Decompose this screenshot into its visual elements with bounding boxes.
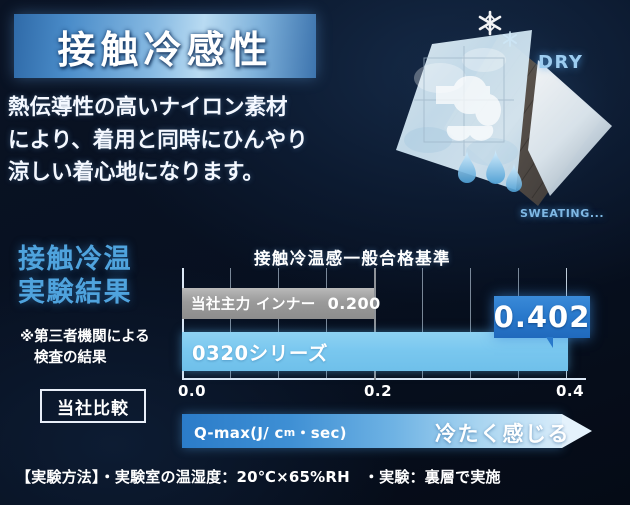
lead-line-1: 熱伝導性の高いナイロン素材 [8,92,328,125]
footnote-experiment: ・実験：裏層で実施 [364,468,501,486]
experiment-result-heading: 接触冷温 実験結果 [18,244,132,310]
x-tick-label-1: 0.2 [364,382,392,400]
qmax-axis-label-prefix: Q-max(J/ c [194,424,284,442]
footnote-method: 【実験方法】・実験室の温湿度：20℃×65%RH [16,468,350,486]
x-tick-label-0: 0.0 [178,382,206,400]
chart-x-tick-labels: 0.0 0.2 0.4 [182,382,592,402]
qmax-axis-label-superscript: m [284,426,296,439]
qmax-feels-cold-label: 冷たく感じる [435,418,570,448]
company-comparison-badge-label: 当社比較 [57,394,129,419]
infographic-root: 接触冷感性 熱伝導性の高いナイロン素材 により、着用と同時にひんやり 涼しい着心… [0,0,630,505]
lead-paragraph: 熱伝導性の高いナイロン素材 により、着用と同時にひんやり 涼しい着心地になります… [8,92,328,190]
qmax-axis-label: Q-max(J/ cm・sec) [194,422,347,443]
third-party-note-line-2: 検査の結果 [20,348,150,369]
page-title-banner: 接触冷感性 [14,14,316,78]
bar-competitor-value: 0.200 [328,294,381,313]
bar-product-label: 0320シリーズ [192,337,328,366]
third-party-note-line-1: ※第三者機関による [20,327,150,348]
chart-x-axis [182,378,586,380]
sweating-label: SWEATING... [520,207,604,220]
lead-line-3: 涼しい着心地になります。 [8,157,328,190]
product-value-callout-text: 0.402 [494,300,591,334]
lead-line-2: により、着用と同時にひんやり [8,125,328,158]
product-value-callout: 0.402 [494,296,590,338]
bar-competitor-label: 当社主力 インナー [191,293,316,314]
footnote: 【実験方法】・実験室の温湿度：20℃×65%RH・実験：裏層で実施 [16,466,501,487]
experiment-result-heading-line-1: 接触冷温 [18,244,132,277]
fabric-swatch-graphic [388,0,630,236]
fabric-illustration: DRY SWEATING... [388,0,630,236]
chart-title: 接触冷温感一般合格基準 [254,245,451,269]
qmax-bar-chart: 接触冷温感一般合格基準 当社主力 インナー 0.200 0320シリーズ [182,246,592,394]
dry-label: DRY [538,52,583,73]
qmax-scale-arrow: Q-max(J/ cm・sec) 冷たく感じる [182,414,600,448]
third-party-note: ※第三者機関による 検査の結果 [20,327,150,368]
x-tick-label-2: 0.4 [556,382,584,400]
bar-competitor: 当社主力 インナー 0.200 [182,288,374,319]
qmax-axis-label-suffix: ・sec) [295,424,346,442]
company-comparison-badge: 当社比較 [40,389,146,423]
experiment-result-heading-line-2: 実験結果 [18,277,132,310]
page-title: 接触冷感性 [57,19,272,74]
chart-plot-area: 当社主力 インナー 0.200 0320シリーズ 0.402 [182,268,586,380]
